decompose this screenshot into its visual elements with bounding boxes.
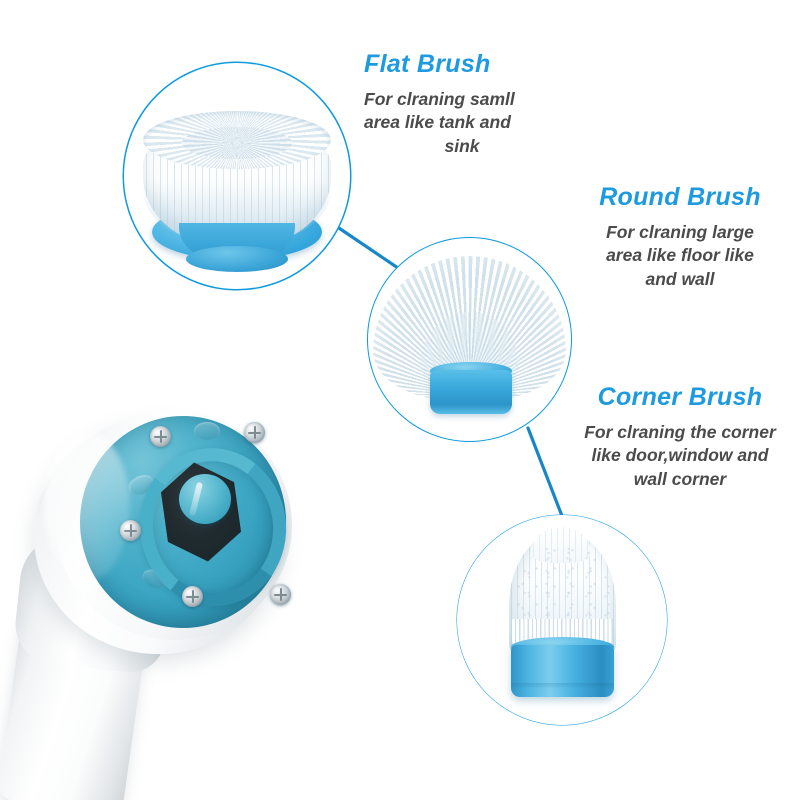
callout-description-line: like door,window and: [566, 444, 794, 467]
device-screw: [244, 422, 265, 443]
device-screw: [182, 586, 203, 607]
device-drive-knob: [179, 474, 231, 524]
corner-brush-illustration: [457, 515, 667, 725]
flat-brush-photo: [124, 63, 350, 289]
callout-description-round-brush: For clraning large area like floor like …: [576, 221, 784, 291]
callout-description-line: wall corner: [566, 468, 794, 491]
callout-round-brush: Round Brush For clraning large area like…: [576, 185, 784, 291]
callout-description-line: area like tank and: [364, 111, 560, 134]
device-screw: [150, 426, 171, 447]
callout-title-flat-brush: Flat Brush: [364, 52, 560, 77]
callout-description-corner-brush: For clraning the corner like door,window…: [566, 421, 794, 491]
callout-description-line: area like floor like: [576, 244, 784, 267]
device-highlight: [44, 432, 130, 582]
callout-description-line: For clraning large: [576, 221, 784, 244]
callout-flat-brush: Flat Brush For clraning samll area like …: [364, 52, 560, 158]
flat-brush-illustration: [124, 63, 350, 289]
corner-brush-base-collar: [511, 645, 614, 697]
callout-title-corner-brush: Corner Brush: [566, 385, 794, 410]
callout-description-line: sink: [364, 135, 560, 158]
infographic-canvas: Flat Brush For clraning samll area like …: [0, 0, 800, 800]
connector-line-round-to-corner: [528, 428, 562, 516]
flat-brush-base-foot: [186, 246, 288, 272]
callout-title-round-brush: Round Brush: [576, 185, 784, 210]
round-brush-base-collar: [430, 370, 512, 414]
round-brush-photo: [368, 238, 571, 441]
device-mount-dimple: [194, 422, 220, 440]
handheld-scrubber-device: [0, 398, 354, 800]
corner-brush-photo: [457, 515, 667, 725]
callout-description-line: and wall: [576, 268, 784, 291]
corner-brush-base-shadow: [511, 683, 614, 689]
callout-description-line: For clraning the corner: [566, 421, 794, 444]
callout-description-flat-brush: For clraning samll area like tank and si…: [364, 88, 560, 158]
device-screw: [270, 584, 291, 605]
flat-brush-bristle-core: [182, 127, 292, 159]
round-brush-illustration: [368, 238, 571, 441]
callout-description-line: For clraning samll: [364, 88, 560, 111]
callout-corner-brush: Corner Brush For clraning the corner lik…: [566, 385, 794, 491]
